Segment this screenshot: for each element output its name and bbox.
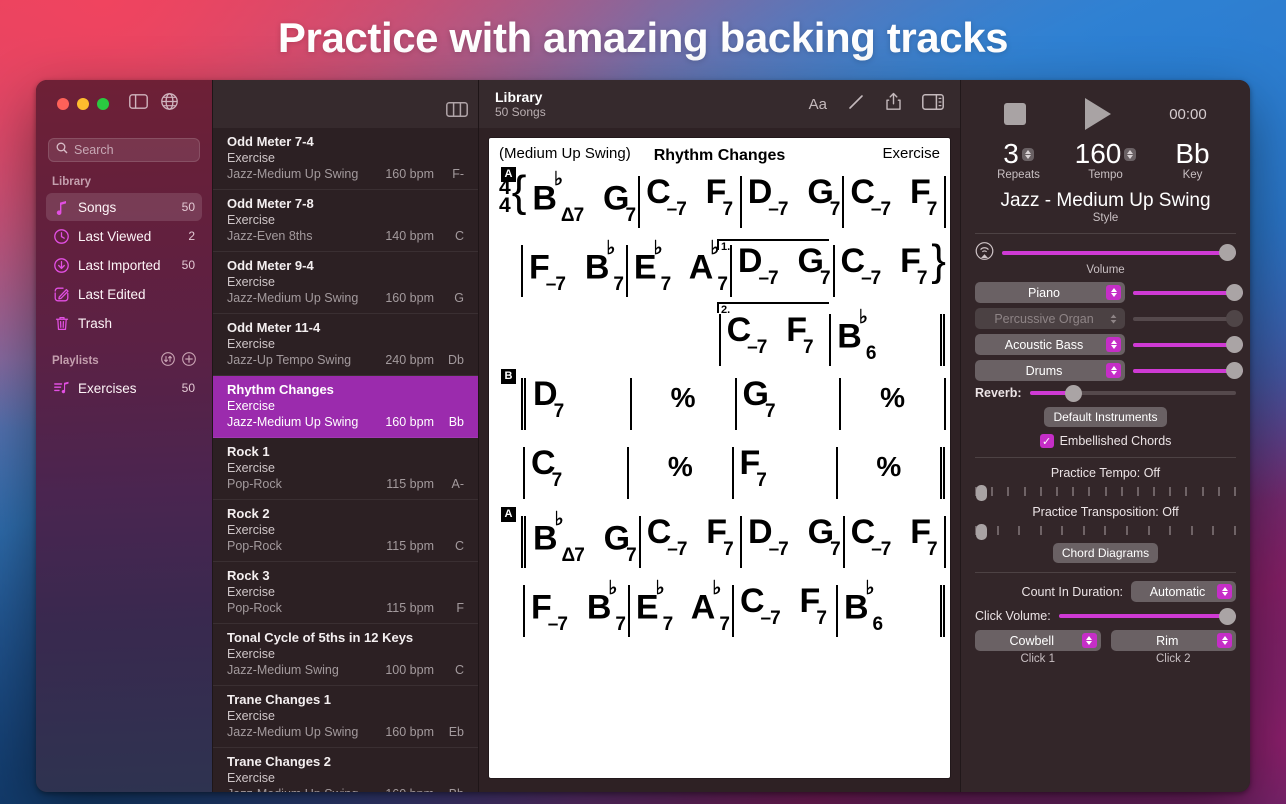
style-label: Style: [975, 212, 1236, 224]
staff-line: A B♭Δ7 G7 C–7 F7 D–7 G7 C–7 F7: [499, 514, 946, 583]
song-style: Pop-Rock: [227, 476, 370, 492]
score-column: Library 50 Songs Aa Rhythm Changes: [478, 80, 960, 792]
chevron-updown-icon[interactable]: [1082, 633, 1097, 648]
double-barline: [940, 314, 942, 366]
repeats-value: 3: [1003, 138, 1019, 170]
song-key: Bb: [434, 414, 464, 430]
double-barline: [940, 447, 942, 499]
repeats-label: Repeats: [975, 169, 1062, 181]
instrument-row-drums: Drums: [975, 360, 1236, 381]
sidebar-item-songs[interactable]: Songs 50: [46, 193, 202, 221]
staff-line: 2. C–7 F7 B♭6: [499, 312, 946, 376]
song-kind: Exercise: [227, 150, 464, 166]
song-key: Bb: [434, 786, 464, 792]
measure: C–7 F7: [640, 174, 740, 224]
search-icon: [56, 141, 68, 159]
chevron-updown-icon[interactable]: [1106, 363, 1121, 378]
sheet-kind: Exercise: [882, 145, 940, 162]
measure: C–7 F7: [734, 583, 836, 633]
player-values: 3 Repeats 160 Tempo Bb Key: [975, 138, 1236, 181]
song-kind: Exercise: [227, 646, 464, 662]
click-1-label: Click 1: [975, 653, 1101, 665]
sidebar-item-label: Trash: [78, 316, 187, 331]
song-kind: Exercise: [227, 212, 464, 228]
chord: C–7 F7: [841, 243, 930, 293]
measure: %: [838, 445, 940, 483]
sidebar-item-count: 2: [188, 229, 195, 243]
song-style: Jazz-Medium Up Swing: [227, 786, 370, 792]
section-label-a: A: [501, 167, 516, 182]
list-item[interactable]: Trane Changes 2 Exercise Jazz-Medium Up …: [213, 748, 478, 792]
song-style: Jazz-Medium Up Swing: [227, 724, 370, 740]
chord: B♭6: [844, 583, 885, 639]
ending-1-bracket: 1.: [717, 239, 829, 250]
measure: %: [632, 376, 735, 414]
chord: C–7 F7: [727, 312, 816, 362]
sidebar-item-label: Last Imported: [78, 258, 174, 273]
sidebar-item-last-edited[interactable]: Last Edited: [46, 280, 202, 308]
measure: F–7 B♭7: [525, 583, 628, 639]
volume-slider[interactable]: [1002, 246, 1236, 260]
minimize-button[interactable]: [77, 98, 89, 110]
chevron-updown-icon[interactable]: [1217, 584, 1232, 599]
chord: E♭7 A♭7: [634, 243, 730, 299]
volume-label: Volume: [975, 264, 1236, 276]
click-volume-slider[interactable]: [1059, 609, 1236, 623]
sidebar-item-count: 50: [182, 381, 195, 395]
close-button[interactable]: [57, 98, 69, 110]
song-bpm: 160 bpm: [370, 724, 434, 740]
click-sounds-row: Cowbell Click 1 Rim Click 2: [975, 630, 1236, 665]
chevron-updown-icon[interactable]: [1217, 633, 1232, 648]
lead-sheet[interactable]: Rhythm Changes (Medium Up Swing) Exercis…: [489, 138, 950, 778]
list-item[interactable]: Trane Changes 1 Exercise Jazz-Medium Up …: [213, 686, 478, 748]
playlists-header-label: Playlists: [52, 355, 99, 367]
song-bpm: 115 bpm: [370, 600, 434, 616]
stop-icon[interactable]: [1004, 103, 1026, 125]
measure: %: [841, 376, 944, 414]
sidebar-item-label: Last Edited: [78, 287, 187, 302]
sidebar-item-label: Exercises: [78, 381, 174, 396]
sidebar-item-exercises[interactable]: Exercises 50: [46, 374, 202, 402]
song-title: Rock 3: [227, 568, 464, 584]
play-icon[interactable]: [1085, 98, 1111, 130]
instrument-volume-piano[interactable]: [1133, 286, 1243, 300]
measure: C–7 F7: [845, 514, 944, 564]
edit-square-icon: [53, 287, 70, 302]
repeat-measure-symbol: %: [671, 382, 696, 414]
chord: C–7 F7: [646, 174, 735, 224]
measure: D–7 G7: [732, 243, 833, 293]
song-style: Jazz-Even 8ths: [227, 228, 370, 244]
song-title: Rock 2: [227, 506, 464, 522]
song-title: Odd Meter 7-4: [227, 134, 464, 150]
measure: B♭6: [838, 583, 940, 639]
search-field[interactable]: [48, 138, 200, 162]
practice-tempo-slider[interactable]: [975, 484, 1236, 500]
chevron-updown-icon[interactable]: [1106, 311, 1121, 326]
sidebar-item-count: 50: [182, 258, 195, 272]
chord: B♭Δ7 G7: [533, 514, 639, 570]
chord: C–7 F7: [740, 583, 829, 633]
click-2-label: Click 2: [1111, 653, 1237, 665]
chord-diagrams-button[interactable]: Chord Diagrams: [1053, 543, 1158, 563]
song-style: Jazz-Medium Swing: [227, 662, 370, 678]
instrument-select-drums[interactable]: Drums: [975, 360, 1125, 381]
list-item[interactable]: Odd Meter 11-4 Exercise Jazz-Up Tempo Sw…: [213, 314, 478, 376]
song-kind: Exercise: [227, 274, 464, 290]
style-value[interactable]: Jazz - Medium Up Swing: [975, 190, 1236, 212]
chord: B♭Δ7 G7: [532, 174, 638, 230]
measure: %: [629, 445, 731, 483]
list-item[interactable]: Odd Meter 7-4 Exercise Jazz-Medium Up Sw…: [213, 128, 478, 190]
player-panel: 00:00 3 Repeats 160 Tempo Bb Key Jazz - …: [960, 80, 1250, 792]
instrument-select-piano[interactable]: Piano: [975, 282, 1125, 303]
instrument-volume-bass[interactable]: [1133, 338, 1243, 352]
app-window: Library Songs 50 Last Viewed 2 Last Impo…: [36, 80, 1250, 792]
sidebar-item-last-viewed[interactable]: Last Viewed 2: [46, 222, 202, 250]
chord: B♭6: [837, 312, 878, 368]
measure: E♭7 A♭7: [628, 243, 730, 299]
trash-icon: [53, 316, 70, 331]
song-title: Odd Meter 9-4: [227, 258, 464, 274]
reverb-slider[interactable]: [1030, 386, 1236, 400]
chord: C–7 F7: [850, 174, 939, 224]
divider: [975, 457, 1236, 458]
measure: D–7 G7: [742, 514, 843, 564]
reverb-label: Reverb:: [975, 386, 1022, 400]
clock-icon: [53, 229, 70, 244]
barline: [944, 516, 946, 568]
instrument-select-bass[interactable]: Acoustic Bass: [975, 334, 1125, 355]
measure: F7: [734, 445, 836, 495]
key-value: Bb: [1175, 138, 1209, 170]
song-title: Rock 1: [227, 444, 464, 460]
repeats-field[interactable]: 3 Repeats: [975, 138, 1062, 181]
song-key: C: [434, 228, 464, 244]
song-title: Odd Meter 7-8: [227, 196, 464, 212]
song-kind: Exercise: [227, 336, 464, 352]
song-key: C: [434, 538, 464, 554]
song-list-column: Odd Meter 7-4 Exercise Jazz-Medium Up Sw…: [212, 80, 478, 792]
measure: B♭Δ7 G7: [526, 174, 638, 230]
double-barline: [521, 378, 523, 430]
tempo-label: Tempo: [1062, 169, 1149, 181]
song-kind: Exercise: [227, 770, 464, 786]
list-item[interactable]: Tonal Cycle of 5ths in 12 Keys Exercise …: [213, 624, 478, 686]
song-bpm: 160 bpm: [370, 414, 434, 430]
chord: F7: [740, 445, 769, 495]
measure: F–7 B♭7: [523, 243, 626, 299]
count-in-row: Count In Duration: Automatic: [975, 581, 1236, 602]
divider: [975, 572, 1236, 573]
instrument-row-organ: Percussive Organ: [975, 308, 1236, 329]
chevron-updown-icon[interactable]: [1106, 337, 1121, 352]
practice-transposition-knob[interactable]: [976, 524, 987, 540]
list-item[interactable]: Rock 2 Exercise Pop-Rock115 bpmC: [213, 500, 478, 562]
library-section-header: Library: [46, 162, 202, 193]
window-controls: [46, 80, 202, 128]
download-icon: [53, 258, 70, 273]
chord: F–7 B♭7: [531, 583, 628, 639]
click-2-select[interactable]: Rim: [1111, 630, 1237, 651]
pencil-icon[interactable]: [847, 93, 865, 116]
click-1-select[interactable]: Cowbell: [975, 630, 1101, 651]
share-icon[interactable]: [885, 92, 902, 116]
song-bpm: 140 bpm: [370, 228, 434, 244]
tempo-value: 160: [1075, 138, 1122, 170]
sidebar-item-label: Last Viewed: [78, 229, 180, 244]
barline: [944, 378, 946, 430]
list-item-selected[interactable]: Rhythm Changes Exercise Jazz-Medium Up S…: [213, 376, 478, 438]
airplay-icon[interactable]: [975, 242, 994, 263]
song-style: Jazz-Up Tempo Swing: [227, 352, 370, 368]
song-title: Odd Meter 11-4: [227, 320, 464, 336]
elapsed-time: 00:00: [1169, 106, 1207, 123]
practice-tempo-knob[interactable]: [976, 485, 987, 501]
ending-2-bracket: 2.: [717, 302, 829, 313]
chord: E♭7 A♭7: [636, 583, 732, 639]
song-title: Trane Changes 2: [227, 754, 464, 770]
instrument-select-organ[interactable]: Percussive Organ: [975, 308, 1125, 329]
measure: B♭Δ7 G7: [527, 514, 639, 570]
reverb-row: Reverb:: [975, 386, 1236, 400]
sidebar-item-trash[interactable]: Trash: [46, 309, 202, 337]
practice-transposition-label: Practice Transposition: Off: [975, 505, 1236, 519]
text-format-icon[interactable]: Aa: [809, 96, 827, 113]
song-key: A-: [434, 476, 464, 492]
sidebar-item-last-imported[interactable]: Last Imported 50: [46, 251, 202, 279]
song-bpm: 160 bpm: [370, 290, 434, 306]
song-kind: Exercise: [227, 522, 464, 538]
sidebar: Library Songs 50 Last Viewed 2 Last Impo…: [36, 80, 212, 792]
chord: C7: [531, 445, 564, 495]
zoom-button[interactable]: [97, 98, 109, 110]
song-kind: Exercise: [227, 398, 464, 414]
practice-tempo-label: Practice Tempo: Off: [975, 466, 1236, 480]
instrument-volume-organ[interactable]: [1133, 312, 1243, 326]
song-kind: Exercise: [227, 708, 464, 724]
staff-line: A 4 4 { B♭Δ7 G7 C–7 F7 D–7 G7 C–7 F7: [499, 174, 946, 243]
click-2-cell: Rim Click 2: [1111, 630, 1237, 665]
measure: C–7 F7: [844, 174, 944, 224]
song-key: Db: [434, 352, 464, 368]
inspector-icon[interactable]: [922, 94, 944, 115]
playlist-icon: [53, 381, 70, 395]
song-key: G: [434, 290, 464, 306]
sidebar-toggle-icon[interactable]: [129, 94, 148, 114]
section-label-a2: A: [501, 507, 516, 522]
measure: C–7 F7: [721, 312, 830, 362]
song-key: F: [434, 600, 464, 616]
measure: C–7 F7: [835, 243, 932, 293]
staff-line: B D7 % G7 %: [499, 376, 946, 445]
divider: [975, 233, 1236, 234]
click-volume-row: Click Volume:: [975, 609, 1236, 623]
chevron-updown-icon[interactable]: [1106, 285, 1121, 300]
playlists-section-header: Playlists: [46, 338, 202, 374]
time-signature: 4 4: [499, 179, 511, 215]
song-title: Rhythm Changes: [227, 382, 464, 398]
instrument-row-piano: Piano: [975, 282, 1236, 303]
chord: C–7 F7: [851, 514, 940, 564]
instrument-row-bass: Acoustic Bass: [975, 334, 1236, 355]
barline: [944, 176, 946, 228]
song-list-toolbar: [213, 80, 478, 128]
staff-line: F–7 B♭7 E♭7 A♭7 C–7 F7 B♭6: [499, 583, 946, 652]
measure: E♭7 A♭7: [630, 583, 732, 639]
tempo-stepper[interactable]: [1124, 148, 1136, 161]
embellished-chords-checkbox[interactable]: ✓: [1040, 434, 1054, 448]
transport-controls: 00:00: [975, 94, 1236, 134]
song-bpm: 240 bpm: [370, 352, 434, 368]
double-barline: [521, 516, 523, 568]
key-label: Key: [1149, 169, 1236, 181]
repeat-measure-symbol: %: [876, 451, 901, 483]
section-label-b: B: [501, 369, 516, 384]
chord: G7: [743, 376, 778, 426]
list-item[interactable]: Rock 3 Exercise Pop-Rock115 bpmF: [213, 562, 478, 624]
double-barline: [940, 585, 942, 637]
repeat-measure-symbol: %: [668, 451, 693, 483]
music-note-icon: [53, 200, 70, 215]
song-bpm: 160 bpm: [370, 166, 434, 182]
measure: D–7 G7: [742, 174, 843, 224]
song-title: Tonal Cycle of 5ths in 12 Keys: [227, 630, 464, 646]
embellished-chords-label: Embellished Chords: [1060, 434, 1172, 448]
song-style: Jazz-Medium Up Swing: [227, 166, 370, 182]
search-input[interactable]: [74, 143, 192, 157]
song-kind: Exercise: [227, 460, 464, 476]
default-instruments-button[interactable]: Default Instruments: [1044, 407, 1166, 427]
song-kind: Exercise: [227, 584, 464, 600]
repeat-end-icon: }: [931, 241, 946, 281]
page-title: Library: [495, 89, 546, 105]
song-bpm: 160 bpm: [370, 786, 434, 792]
count-in-select[interactable]: Automatic: [1131, 581, 1236, 602]
sheet-style-note: (Medium Up Swing): [499, 145, 631, 162]
embellished-chords-row[interactable]: ✓ Embellished Chords: [975, 434, 1236, 448]
measure: B♭6: [831, 312, 940, 368]
song-key: Eb: [434, 724, 464, 740]
song-key: C: [434, 662, 464, 678]
chord: F–7 B♭7: [529, 243, 626, 299]
song-style: Jazz-Medium Up Swing: [227, 414, 370, 430]
song-style: Jazz-Medium Up Swing: [227, 290, 370, 306]
chord: C–7 F7: [647, 514, 736, 564]
globe-icon[interactable]: [161, 93, 178, 115]
practice-transposition-slider[interactable]: [975, 523, 1236, 539]
song-style: Pop-Rock: [227, 538, 370, 554]
song-bpm: 115 bpm: [370, 476, 434, 492]
song-bpm: 100 bpm: [370, 662, 434, 678]
chord: D–7 G7: [748, 514, 843, 564]
repeats-stepper[interactable]: [1022, 148, 1034, 161]
staff-line: C7 % F7 %: [499, 445, 946, 514]
tempo-field[interactable]: 160 Tempo: [1062, 138, 1149, 181]
sort-icon[interactable]: [161, 352, 175, 369]
measure: G7: [737, 376, 840, 426]
measure: C7: [525, 445, 627, 495]
count-in-label: Count In Duration:: [1022, 585, 1123, 599]
key-field[interactable]: Bb Key: [1149, 138, 1236, 181]
song-title: Trane Changes 1: [227, 692, 464, 708]
song-bpm: 115 bpm: [370, 538, 434, 554]
chord: D–7 G7: [748, 174, 843, 224]
sidebar-item-count: 50: [182, 200, 195, 214]
song-key: F-: [434, 166, 464, 182]
volume-row: [975, 242, 1236, 263]
sidebar-item-label: Songs: [78, 200, 174, 215]
song-list[interactable]: Odd Meter 7-4 Exercise Jazz-Medium Up Sw…: [213, 128, 478, 792]
chord: D–7 G7: [738, 243, 833, 293]
click-1-cell: Cowbell Click 1: [975, 630, 1101, 665]
staff-section-a1: A 4 4 { B♭Δ7 G7 C–7 F7 D–7 G7 C–7 F7: [489, 174, 950, 652]
library-header-label: Library: [52, 176, 91, 188]
song-style: Pop-Rock: [227, 600, 370, 616]
promo-banner-text: Practice with amazing backing tracks: [0, 14, 1286, 62]
measure: C–7 F7: [641, 514, 740, 564]
page-subtitle: 50 Songs: [495, 105, 546, 120]
instrument-volume-drums[interactable]: [1133, 364, 1243, 378]
columns-icon[interactable]: [446, 102, 468, 122]
add-icon[interactable]: [182, 352, 196, 369]
list-item[interactable]: Rock 1 Exercise Pop-Rock115 bpmA-: [213, 438, 478, 500]
repeat-measure-symbol: %: [880, 382, 905, 414]
list-item[interactable]: Odd Meter 9-4 Exercise Jazz-Medium Up Sw…: [213, 252, 478, 314]
score-area[interactable]: Rhythm Changes (Medium Up Swing) Exercis…: [479, 128, 960, 792]
click-volume-label: Click Volume:: [975, 609, 1051, 623]
measure: D7: [527, 376, 630, 426]
list-item[interactable]: Odd Meter 7-8 Exercise Jazz-Even 8ths140…: [213, 190, 478, 252]
chord: D7: [533, 376, 566, 426]
score-toolbar: Library 50 Songs Aa: [479, 80, 960, 128]
